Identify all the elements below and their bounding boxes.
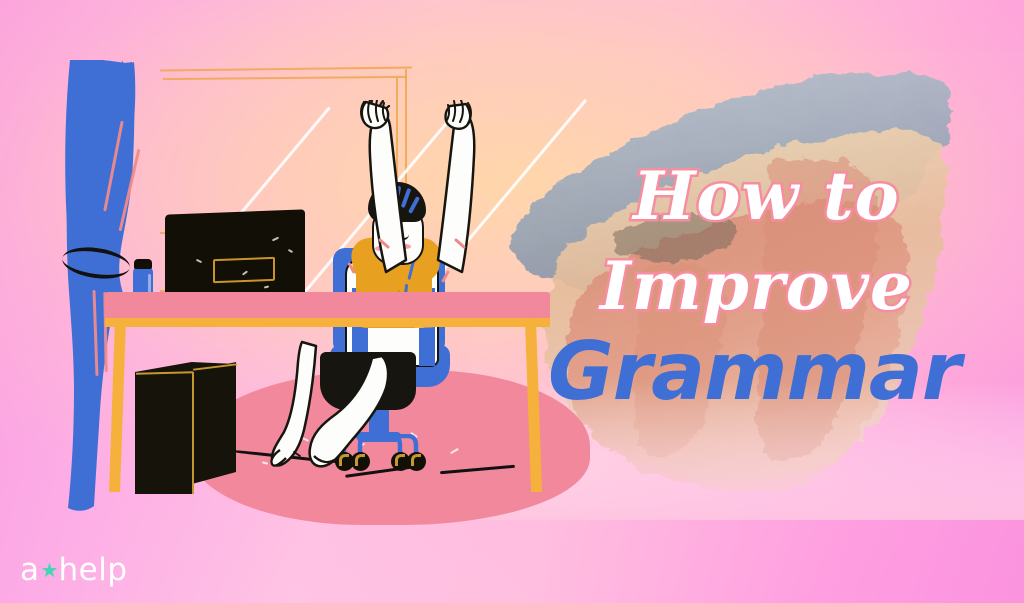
- person-legs: [270, 330, 450, 490]
- logo-suffix: help: [59, 552, 128, 588]
- vest-texture-6: [366, 306, 368, 308]
- ahelp-logo[interactable]: a ★ help: [20, 552, 128, 588]
- person-arms: [340, 100, 510, 280]
- bottle-cap: [134, 259, 152, 269]
- headline-line-1: How to: [633, 163, 900, 229]
- pc-tower-side: [192, 362, 236, 484]
- vest-texture-2: [386, 300, 388, 302]
- logo-prefix: a: [20, 552, 40, 588]
- bottle-highlight: [148, 274, 151, 308]
- vest-texture-3: [398, 290, 400, 292]
- monitor-screen: [165, 209, 305, 302]
- headline-line-3: Grammar: [548, 332, 960, 412]
- vest-texture-5: [404, 310, 406, 312]
- vest-texture-1: [372, 292, 374, 294]
- monitor-screen-outline: [213, 257, 275, 283]
- pc-tower-edge-vertical: [192, 372, 194, 494]
- headline-line-2: Improve: [600, 253, 913, 319]
- star-icon: ★: [41, 562, 58, 579]
- pc-tower-front: [135, 372, 193, 494]
- banner-canvas: How to Improve Grammar a ★ help: [0, 0, 1024, 603]
- vest-texture-4: [380, 312, 382, 314]
